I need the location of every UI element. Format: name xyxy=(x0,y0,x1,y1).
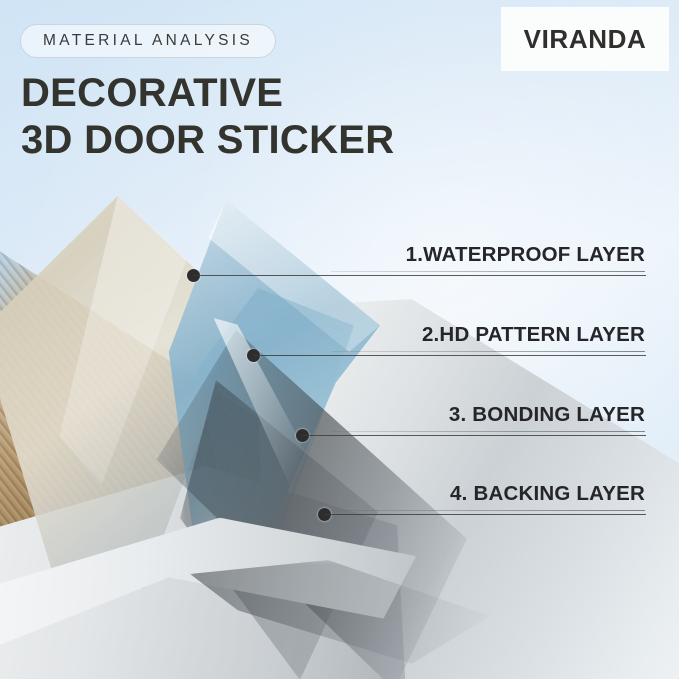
callout-label-3: 3. BONDING LAYER xyxy=(449,403,645,427)
callout-leader-line-1 xyxy=(193,275,646,276)
callout-label-1: 1.WATERPROOF LAYER xyxy=(406,243,645,267)
callout-underline-1 xyxy=(331,271,645,272)
callout-leader-line-2 xyxy=(253,355,646,356)
callout-label-4: 4. BACKING LAYER xyxy=(450,482,645,506)
callout-underline-4 xyxy=(331,510,645,511)
callout-underline-2 xyxy=(331,351,645,352)
callout-underline-3 xyxy=(331,431,645,432)
callout-leader-line-4 xyxy=(324,514,646,515)
callout-group: 1.WATERPROOF LAYER2.HD PATTERN LAYER3. B… xyxy=(0,0,679,679)
callout-label-2: 2.HD PATTERN LAYER xyxy=(422,323,645,347)
product-infographic: MATERIAL ANALYSIS DECORATIVE 3D DOOR STI… xyxy=(0,0,679,679)
callout-leader-line-3 xyxy=(302,435,646,436)
